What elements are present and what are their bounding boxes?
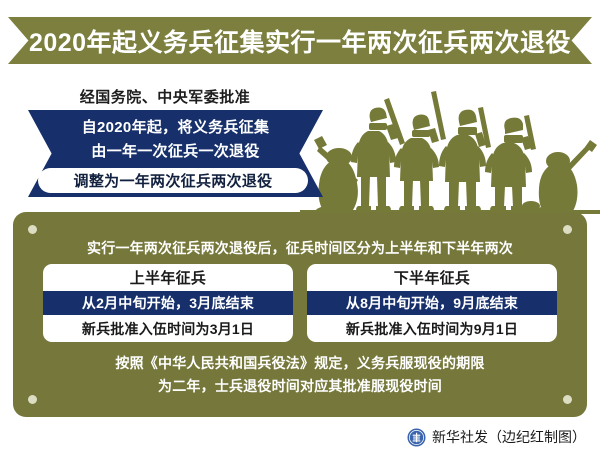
footnote-line-1: 按照《中华人民共和国兵役法》规定，义务兵服现役的期限 <box>41 352 559 375</box>
announcement-highlight-pill: 调整为一年两次征兵两次退役 <box>38 168 308 193</box>
details-panel: 实行一年两次征兵两次退役后，征兵时间区分为上半年和下半年两次 上半年征兵 从2月… <box>13 212 587 417</box>
approval-authority-text: 经国务院、中央军委批准 <box>30 86 300 107</box>
card-title: 下半年征兵 <box>307 264 557 291</box>
announcement-line-1: 自2020年起，将义务兵征集 <box>28 116 323 140</box>
credit-line: 新华社发（边纪红制图） <box>407 427 586 447</box>
credit-text: 新华社发（边纪红制图） <box>432 427 586 447</box>
title-banner: 2020年起义务兵征集实行一年两次征兵两次退役 <box>8 17 592 64</box>
xinhua-emblem-icon <box>407 428 426 447</box>
screw-icon-bottom-right <box>563 395 572 404</box>
screw-icon-top-right <box>563 225 572 234</box>
infographic-poster: 2020年起义务兵征集实行一年两次征兵两次退役 <box>0 0 600 453</box>
card-note: 新兵批准入伍时间为3月1日 <box>43 315 293 342</box>
card-period: 从2月中旬开始，3月底结束 <box>43 291 293 315</box>
card-period: 从8月中旬开始，9月底结束 <box>307 291 557 315</box>
conscription-cards: 上半年征兵 从2月中旬开始，3月底结束 新兵批准入伍时间为3月1日 下半年征兵 … <box>43 264 557 342</box>
card-title: 上半年征兵 <box>43 264 293 291</box>
card-note: 新兵批准入伍时间为9月1日 <box>307 315 557 342</box>
panel-footnote: 按照《中华人民共和国兵役法》规定，义务兵服现役的期限 为二年，士兵退役时间对应其… <box>41 352 559 398</box>
soldiers-silhouette-icon <box>300 86 600 214</box>
soldiers-silhouette-illustration <box>300 86 600 214</box>
panel-heading: 实行一年两次征兵两次退役后，征兵时间区分为上半年和下半年两次 <box>13 238 587 258</box>
footnote-line-2: 为二年，士兵退役时间对应其批准服现役时间 <box>41 375 559 398</box>
announcement-text: 自2020年起，将义务兵征集 由一年一次征兵一次退役 <box>28 116 323 164</box>
card-first-half-year: 上半年征兵 从2月中旬开始，3月底结束 新兵批准入伍时间为3月1日 <box>43 264 293 342</box>
announcement-line-2: 由一年一次征兵一次退役 <box>28 140 323 164</box>
screw-icon-top-left <box>28 225 37 234</box>
page-title: 2020年起义务兵征集实行一年两次征兵两次退役 <box>29 23 571 59</box>
announcement-highlight-text: 调整为一年两次征兵两次退役 <box>74 170 273 191</box>
screw-icon-bottom-left <box>28 395 37 404</box>
card-second-half-year: 下半年征兵 从8月中旬开始，9月底结束 新兵批准入伍时间为9月1日 <box>307 264 557 342</box>
